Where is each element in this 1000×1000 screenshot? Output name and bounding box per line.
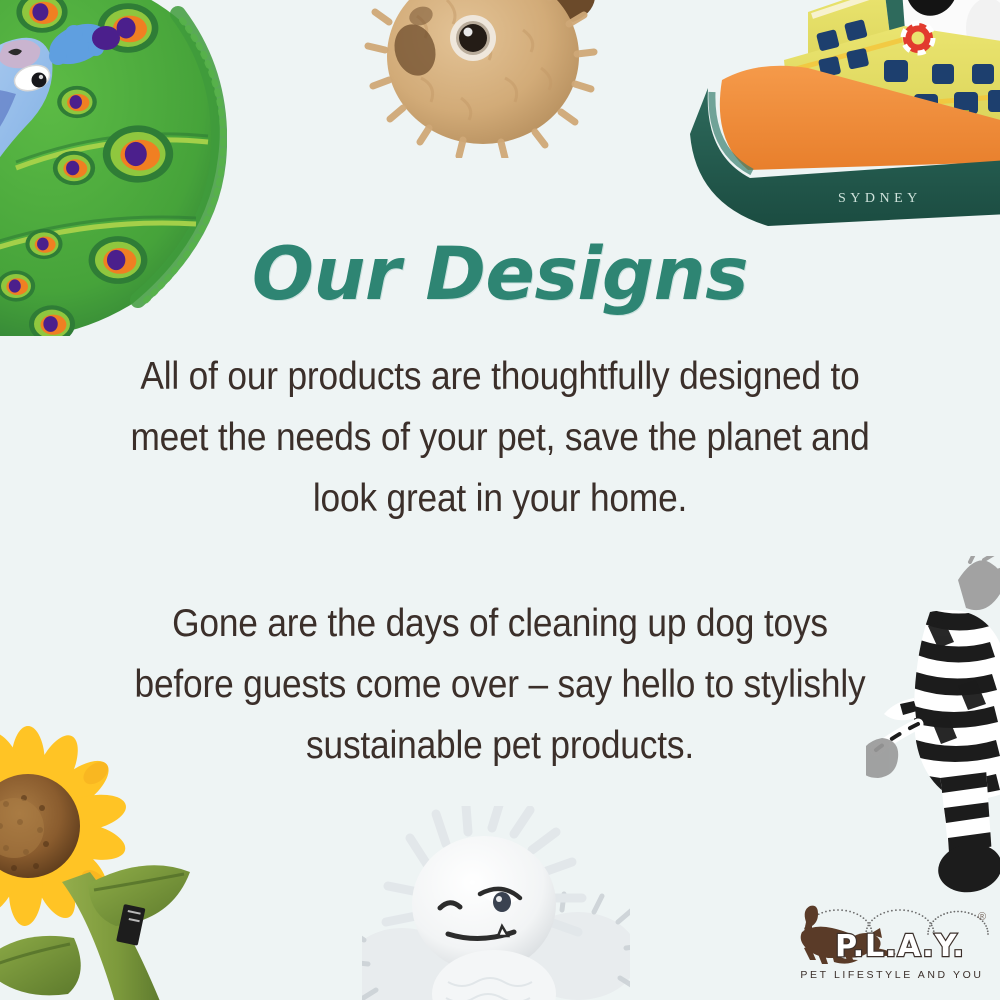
paragraph-products: All of our products are thoughtfully des…: [125, 347, 874, 529]
promo-graphic: SYDNEY: [0, 0, 1000, 1000]
svg-text:SYDNEY: SYDNEY: [838, 191, 922, 206]
registered-mark: ®: [978, 911, 986, 923]
peacock-plush-image: [0, 0, 227, 336]
rabbit-plush-image: [355, 0, 625, 158]
zebra-plush-image: [866, 556, 1000, 896]
yeti-plush-image: [362, 806, 630, 1000]
sunflower-plush-image: [0, 676, 206, 1000]
brand-tagline: PET LIFESTYLE AND YOU: [800, 969, 983, 981]
paragraph-guests: Gone are the days of cleaning up dog toy…: [125, 594, 874, 776]
play-brand-logo: ® P.L.A.Y. PET LIFESTYLE AND YOU: [792, 898, 992, 986]
sydney-ferry-plush-image: SYDNEY: [688, 0, 1000, 226]
brand-wordmark: P.L.A.Y.: [835, 929, 965, 964]
